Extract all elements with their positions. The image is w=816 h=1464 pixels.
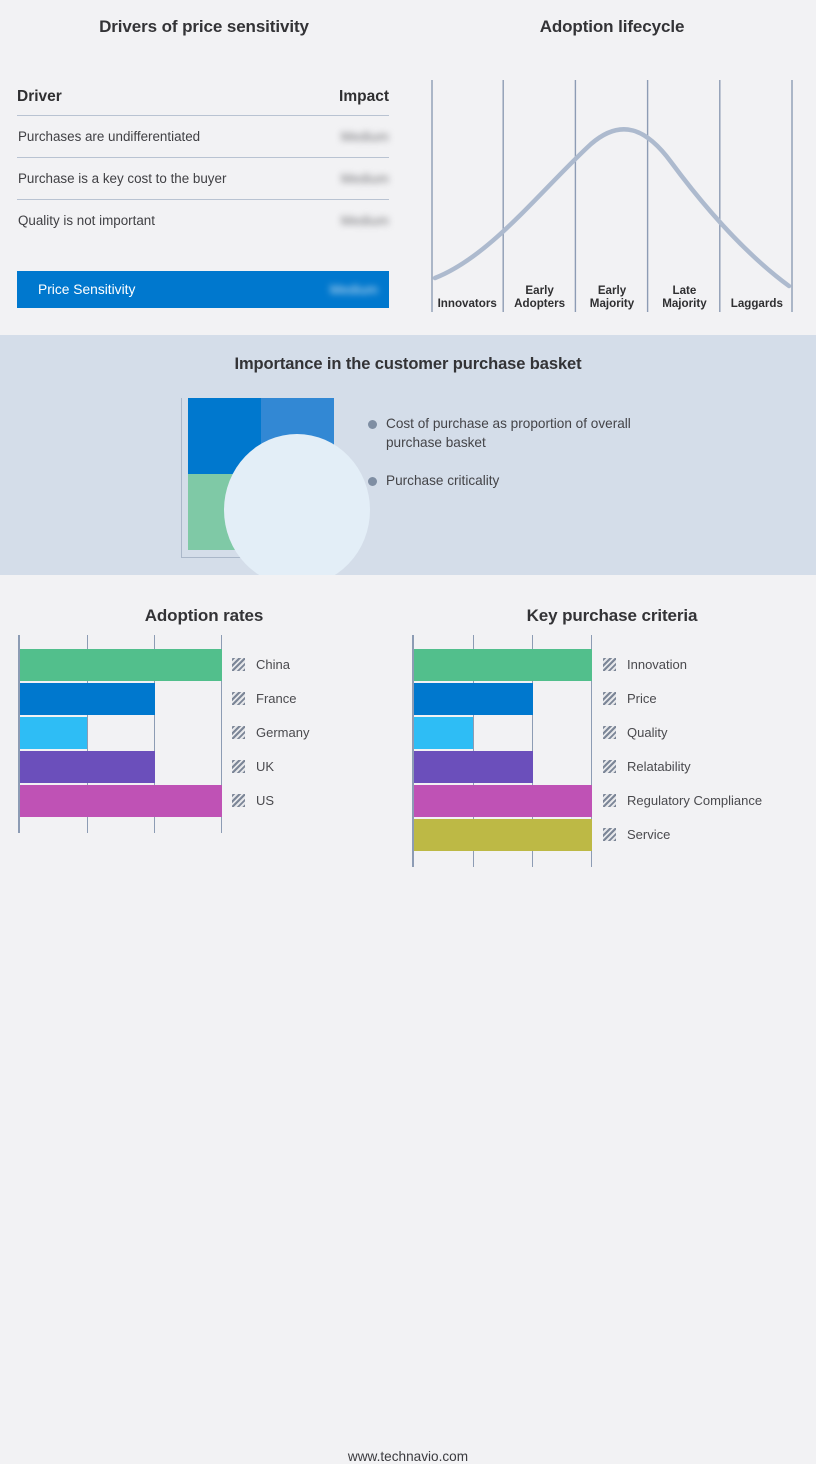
bar-row	[414, 751, 594, 783]
bar-row	[414, 683, 594, 715]
lifecycle-segment-early-majority: Early Majority	[576, 272, 648, 312]
bar	[414, 819, 592, 851]
drivers-title: Drivers of price sensitivity	[0, 17, 408, 37]
segment-line-2: Majority	[662, 297, 706, 311]
drivers-table: Driver Impact Purchases are undifferenti…	[17, 88, 389, 241]
legend-label: US	[256, 793, 274, 808]
hatched-swatch-icon	[603, 794, 616, 807]
bar	[20, 683, 155, 715]
hatched-swatch-icon	[232, 726, 245, 739]
drivers-panel: Drivers of price sensitivity Driver Impa…	[0, 0, 408, 335]
impact-value: Medium	[341, 213, 389, 228]
bar-row	[414, 649, 594, 681]
segment-line-1: Early	[525, 284, 553, 298]
bar	[414, 785, 592, 817]
lifecycle-panel: Adoption lifecycle Innovators	[408, 0, 816, 335]
hatched-swatch-icon	[603, 760, 616, 773]
bar-row	[20, 751, 223, 783]
legend-label: Cost of purchase as proportion of overal…	[386, 415, 646, 453]
bar-row	[20, 717, 223, 749]
importance-title: Importance in the customer purchase bask…	[0, 355, 816, 374]
key-purchase-criteria-legend: InnovationPriceQualityRelatabilityRegula…	[603, 647, 762, 851]
lifecycle-segment-laggards: Laggards	[721, 272, 793, 312]
hatched-swatch-icon	[232, 692, 245, 705]
segment-line-1: Early	[598, 284, 626, 298]
key-purchase-criteria-title: Key purchase criteria	[408, 606, 816, 626]
legend-label: UK	[256, 759, 274, 774]
bullet-dot-icon	[368, 420, 377, 429]
bar	[414, 683, 533, 715]
quadrant-matrix	[179, 398, 344, 563]
quadrant-grid	[188, 398, 334, 550]
legend-label: Price	[627, 691, 657, 706]
segment-line-2: Laggards	[731, 297, 783, 311]
column-header-driver: Driver	[17, 88, 62, 106]
table-row: Quality is not important Medium	[17, 200, 389, 241]
lifecycle-segment-late-majority: Late Majority	[648, 272, 720, 312]
bar	[20, 649, 222, 681]
bar	[414, 649, 592, 681]
bullet-dot-icon	[368, 477, 377, 486]
bar	[414, 717, 473, 749]
hatched-swatch-icon	[232, 794, 245, 807]
hatched-swatch-icon	[603, 692, 616, 705]
legend-label: Quality	[627, 725, 667, 740]
legend-item: Quality	[603, 715, 762, 749]
legend-label: Innovation	[627, 657, 687, 672]
lifecycle-curve	[435, 129, 789, 286]
legend-item: UK	[232, 749, 309, 783]
top-section: Drivers of price sensitivity Driver Impa…	[0, 0, 816, 335]
bar	[414, 751, 533, 783]
importance-legend: Cost of purchase as proportion of overal…	[368, 415, 668, 509]
table-row: Purchase is a key cost to the buyer Medi…	[17, 158, 389, 200]
legend-label: Service	[627, 827, 670, 842]
price-sensitivity-label: Price Sensitivity	[38, 282, 135, 297]
adoption-rates-plot	[18, 635, 223, 833]
driver-name: Purchases are undifferentiated	[17, 129, 200, 144]
segment-line-2: Majority	[590, 297, 634, 311]
footer-url: www.technavio.com	[0, 1449, 816, 1464]
lifecycle-segment-early-adopters: Early Adopters	[503, 272, 575, 312]
adoption-rates-title: Adoption rates	[0, 606, 408, 626]
driver-name: Purchase is a key cost to the buyer	[17, 171, 226, 186]
bar-row	[414, 785, 594, 817]
lifecycle-segment-labels: Innovators Early Adopters Early Majority…	[431, 272, 793, 312]
drivers-table-header: Driver Impact	[17, 88, 389, 116]
bar	[20, 717, 87, 749]
impact-value: Medium	[341, 171, 389, 186]
importance-section: Importance in the customer purchase bask…	[0, 335, 816, 575]
adoption-rates-chart	[18, 635, 223, 833]
legend-item: Regulatory Compliance	[603, 783, 762, 817]
legend-item: France	[232, 681, 309, 715]
hatched-swatch-icon	[232, 760, 245, 773]
segment-line-1: Late	[673, 284, 697, 298]
hatched-swatch-icon	[603, 828, 616, 841]
legend-item: China	[232, 647, 309, 681]
legend-item: Cost of purchase as proportion of overal…	[368, 415, 668, 453]
bar-row	[414, 819, 594, 851]
bar-row	[20, 785, 223, 817]
legend-label: Germany	[256, 725, 309, 740]
legend-item: Purchase criticality	[368, 472, 668, 491]
hatched-swatch-icon	[603, 726, 616, 739]
segment-line-2: Innovators	[438, 297, 497, 311]
table-row: Purchases are undifferentiated Medium	[17, 116, 389, 158]
bar-row	[20, 649, 223, 681]
legend-label: Regulatory Compliance	[627, 793, 762, 808]
lifecycle-segment-innovators: Innovators	[431, 272, 503, 312]
key-purchase-criteria-bars	[414, 649, 594, 853]
quadrant-y-axis	[181, 398, 182, 558]
bar-row	[414, 717, 594, 749]
impact-value: Medium	[341, 129, 389, 144]
lifecycle-title: Adoption lifecycle	[408, 17, 816, 37]
legend-item: Germany	[232, 715, 309, 749]
legend-label: France	[256, 691, 296, 706]
segment-line-2: Adopters	[514, 297, 565, 311]
legend-item: Relatability	[603, 749, 762, 783]
position-marker-dot	[224, 434, 370, 586]
legend-label: Relatability	[627, 759, 691, 774]
price-sensitivity-impact: Medium	[330, 282, 378, 297]
adoption-rates-legend: ChinaFranceGermanyUKUS	[232, 647, 309, 817]
adoption-rates-bars	[20, 649, 223, 819]
legend-item: US	[232, 783, 309, 817]
legend-item: Service	[603, 817, 762, 851]
hatched-swatch-icon	[603, 658, 616, 671]
hatched-swatch-icon	[232, 658, 245, 671]
bottom-section: Adoption rates Key purchase criteria Chi…	[0, 575, 816, 902]
legend-label: China	[256, 657, 290, 672]
column-header-impact: Impact	[339, 88, 389, 106]
key-purchase-criteria-plot	[412, 635, 594, 867]
legend-label: Purchase criticality	[386, 472, 499, 491]
bar	[20, 751, 155, 783]
bar-row	[20, 683, 223, 715]
legend-item: Price	[603, 681, 762, 715]
bar	[20, 785, 222, 817]
legend-item: Innovation	[603, 647, 762, 681]
price-sensitivity-summary-row: Price Sensitivity Medium	[17, 271, 389, 308]
driver-name: Quality is not important	[17, 213, 155, 228]
key-purchase-criteria-chart	[412, 635, 594, 867]
